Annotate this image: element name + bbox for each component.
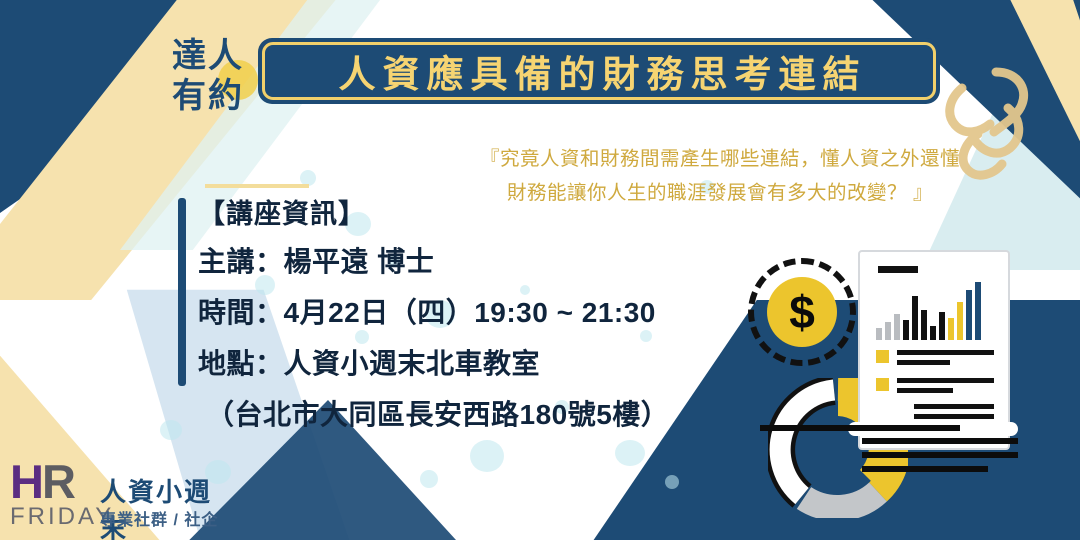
doc-text-line — [914, 404, 994, 409]
chart-bar — [948, 318, 954, 340]
doc-text-lines — [897, 378, 994, 398]
quote-text: 『究竟人資和財務間需產生哪些連結，懂人資之外還懂 財務能讓你人生的職涯發展會有多… — [455, 142, 985, 210]
doc-text-line — [897, 378, 994, 383]
brand-logo: HR FRIDAY 人資小週末 專業社群 / 社企 — [8, 458, 228, 534]
chart-bar — [930, 326, 936, 340]
chart-bar — [885, 322, 891, 340]
splash-dot — [665, 475, 679, 489]
dollar-sign: $ — [789, 289, 815, 335]
doc-bar-chart — [876, 282, 994, 340]
splash-dot — [420, 470, 438, 488]
info-top-rule — [205, 184, 309, 188]
chart-bar — [975, 282, 981, 340]
doc-bullet-row — [876, 378, 994, 398]
doc-title-bar — [878, 266, 918, 273]
chart-bar — [957, 302, 963, 340]
quote-line-2: 財務能讓你人生的職涯發展會有多大的改變？ 』 — [455, 176, 985, 210]
report-document-icon — [858, 250, 1010, 450]
doc-text-lines — [897, 350, 994, 370]
dollar-coin-icon: $ — [748, 258, 856, 366]
doc-text-line — [897, 388, 953, 393]
doc-footer-lines — [914, 404, 994, 424]
logo-letter-r: R — [42, 455, 74, 508]
accent-line — [760, 425, 960, 431]
info-line-venue: 地點：人資小週末北車教室 — [198, 338, 669, 389]
doc-bullet-list — [876, 350, 994, 406]
title-banner: 人資應具備的財務思考連結 — [258, 38, 940, 104]
chart-bar — [921, 310, 927, 340]
info-line-time: 時間：4月22日（四）19:30 ~ 21:30 — [198, 287, 669, 338]
accent-line — [862, 452, 1018, 458]
logo-chinese-subtitle: 專業社群 / 社企 — [100, 506, 218, 530]
accent-line — [862, 438, 1018, 444]
doc-bullet-row — [876, 350, 994, 370]
poster-canvas: 達人有約 人資應具備的財務思考連結 『究竟人資和財務間需產生哪些連結，懂人資之外… — [0, 0, 1080, 540]
splash-dot — [615, 440, 645, 466]
coin-disc: $ — [767, 277, 837, 347]
page-title: 人資應具備的財務思考連結 — [332, 44, 867, 98]
accent-line — [862, 466, 988, 472]
doc-bullet-square — [876, 350, 889, 363]
splash-dot — [160, 420, 182, 440]
doc-text-line — [897, 350, 994, 355]
chart-bar — [903, 320, 909, 340]
info-heading: 【講座資訊】 — [198, 192, 366, 231]
info-line-address: （台北市大同區長安西路180號5樓） — [198, 389, 669, 440]
logo-hr-mark: HR — [10, 458, 74, 505]
logo-letter-h: H — [10, 455, 42, 508]
info-vertical-bar — [178, 198, 186, 386]
quote-line-1: 『究竟人資和財務間需產生哪些連結，懂人資之外還懂 — [455, 142, 985, 176]
chart-bar — [966, 290, 972, 340]
title-banner-inner: 人資應具備的財務思考連結 — [262, 42, 936, 100]
doc-bullet-square — [876, 378, 889, 391]
chart-bar — [894, 314, 900, 340]
chart-bar — [912, 296, 918, 340]
kicker-label: 達人有約 — [172, 36, 258, 116]
logo-friday-text: FRIDAY — [10, 505, 114, 529]
chart-bar — [876, 328, 882, 340]
info-line-speaker: 主講：楊平遠 博士 — [198, 236, 669, 287]
info-lines: 主講：楊平遠 博士 時間：4月22日（四）19:30 ~ 21:30 地點：人資… — [198, 236, 669, 440]
donut-segment-gray — [804, 492, 878, 508]
chart-bar — [939, 312, 945, 340]
doc-text-line — [897, 360, 950, 365]
doc-text-line — [914, 414, 994, 419]
splash-dot — [470, 440, 504, 472]
